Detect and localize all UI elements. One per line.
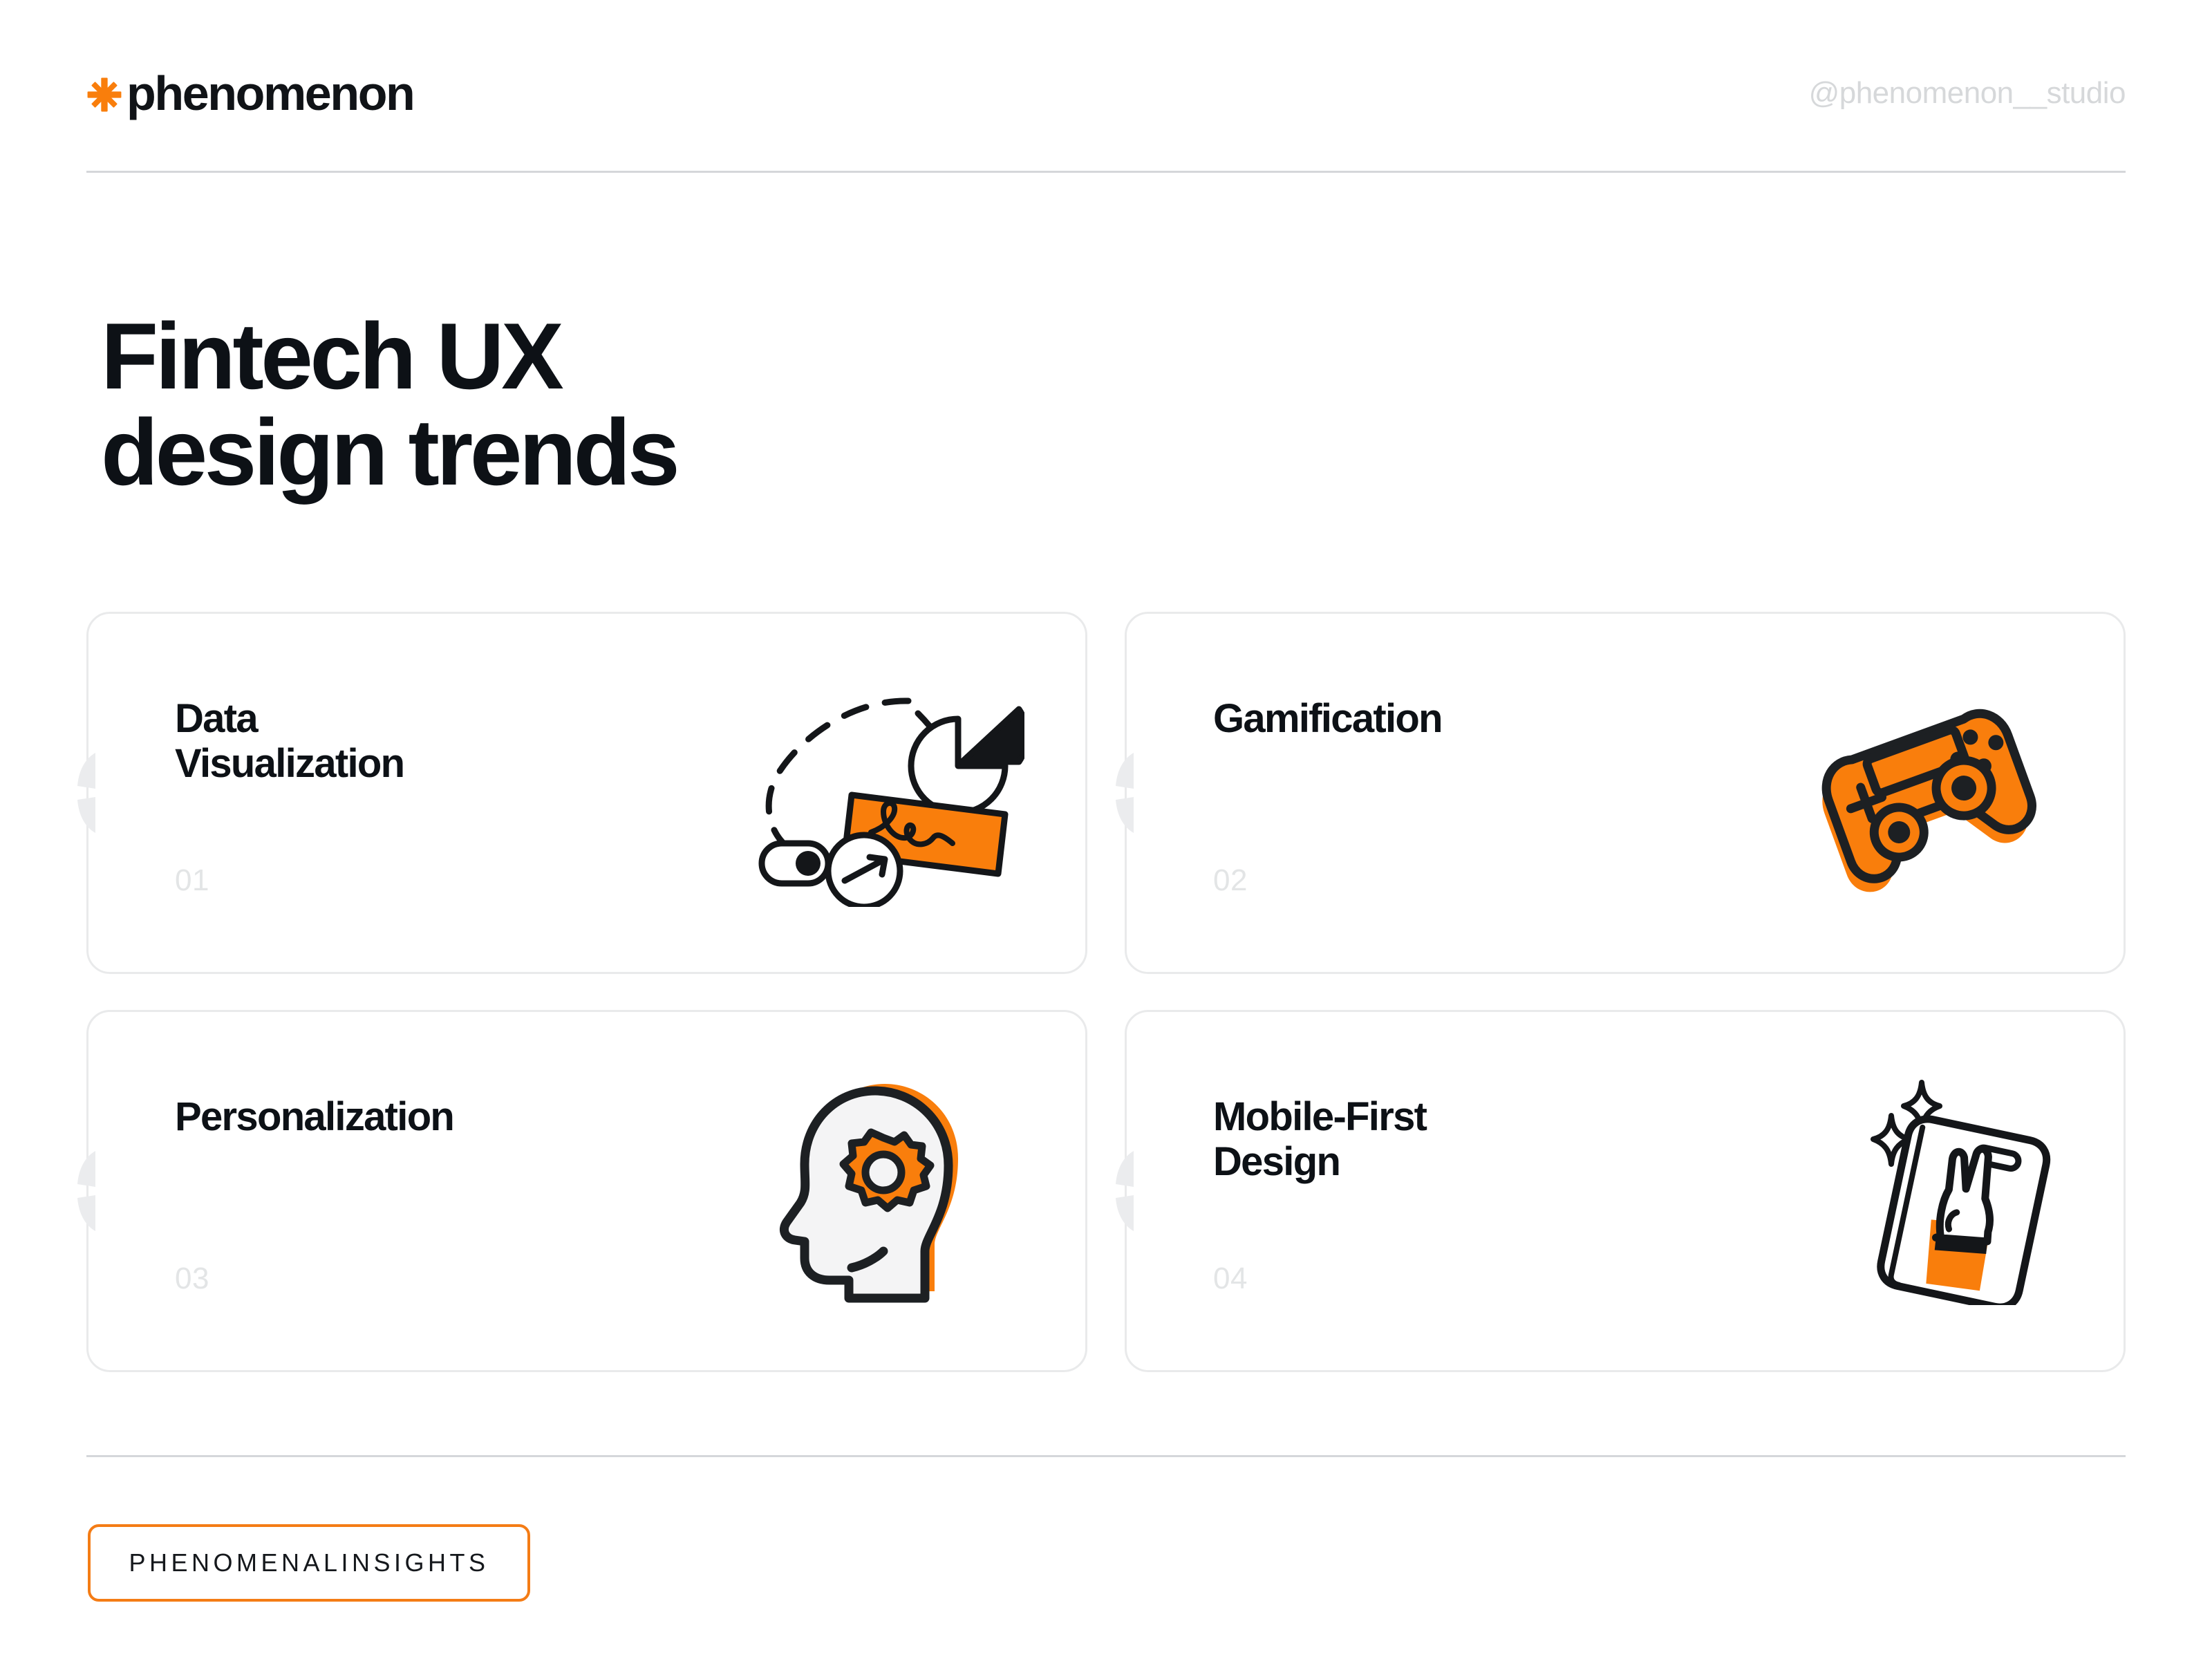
card-number: 01 [175,865,209,896]
card-edge-wedge-decoration [1106,751,1134,834]
footer-divider [86,1455,2126,1457]
trend-card-grid: Data Visualization 01 [86,612,2126,1372]
header: phenomenon @phenomenon__studio [86,55,2126,131]
card-title: Personalization [175,1095,453,1140]
trend-card-data-visualization[interactable]: Data Visualization 01 [86,612,1087,974]
card-edge-wedge-decoration [68,1150,95,1232]
trend-card-personalization[interactable]: Personalization 03 [86,1010,1087,1372]
card-title: Data Visualization [175,697,404,787]
data-visualization-illustration [748,679,1024,907]
social-handle[interactable]: @phenomenon__studio [1809,76,2126,111]
brand-name: phenomenon [126,69,413,118]
asterisk-icon [86,77,122,113]
card-title: Mobile-First Design [1213,1095,1426,1185]
hashtag-badge[interactable]: PHENOMENALINSIGHTS [88,1524,530,1602]
gamepad-illustration [1786,679,2063,907]
phone-with-hand-illustration [1786,1077,2063,1305]
card-edge-wedge-decoration [68,751,95,834]
card-number: 02 [1213,865,1248,896]
card-title: Gamification [1213,697,1442,742]
trend-card-gamification[interactable]: Gamification 02 [1125,612,2126,974]
brand-logo[interactable]: phenomenon [86,69,413,118]
hashtag-badge-label: PHENOMENALINSIGHTS [129,1548,489,1577]
card-edge-wedge-decoration [1106,1150,1134,1232]
slide-canvas: phenomenon @phenomenon__studio Fintech U… [0,0,2212,1659]
card-number: 04 [1213,1264,1248,1294]
page-title: Fintech UX design trends [101,308,677,500]
card-number: 03 [175,1264,209,1294]
head-with-gear-illustration [748,1077,1024,1305]
header-divider [86,171,2126,173]
trend-card-mobile-first-design[interactable]: Mobile-First Design 04 [1125,1010,2126,1372]
